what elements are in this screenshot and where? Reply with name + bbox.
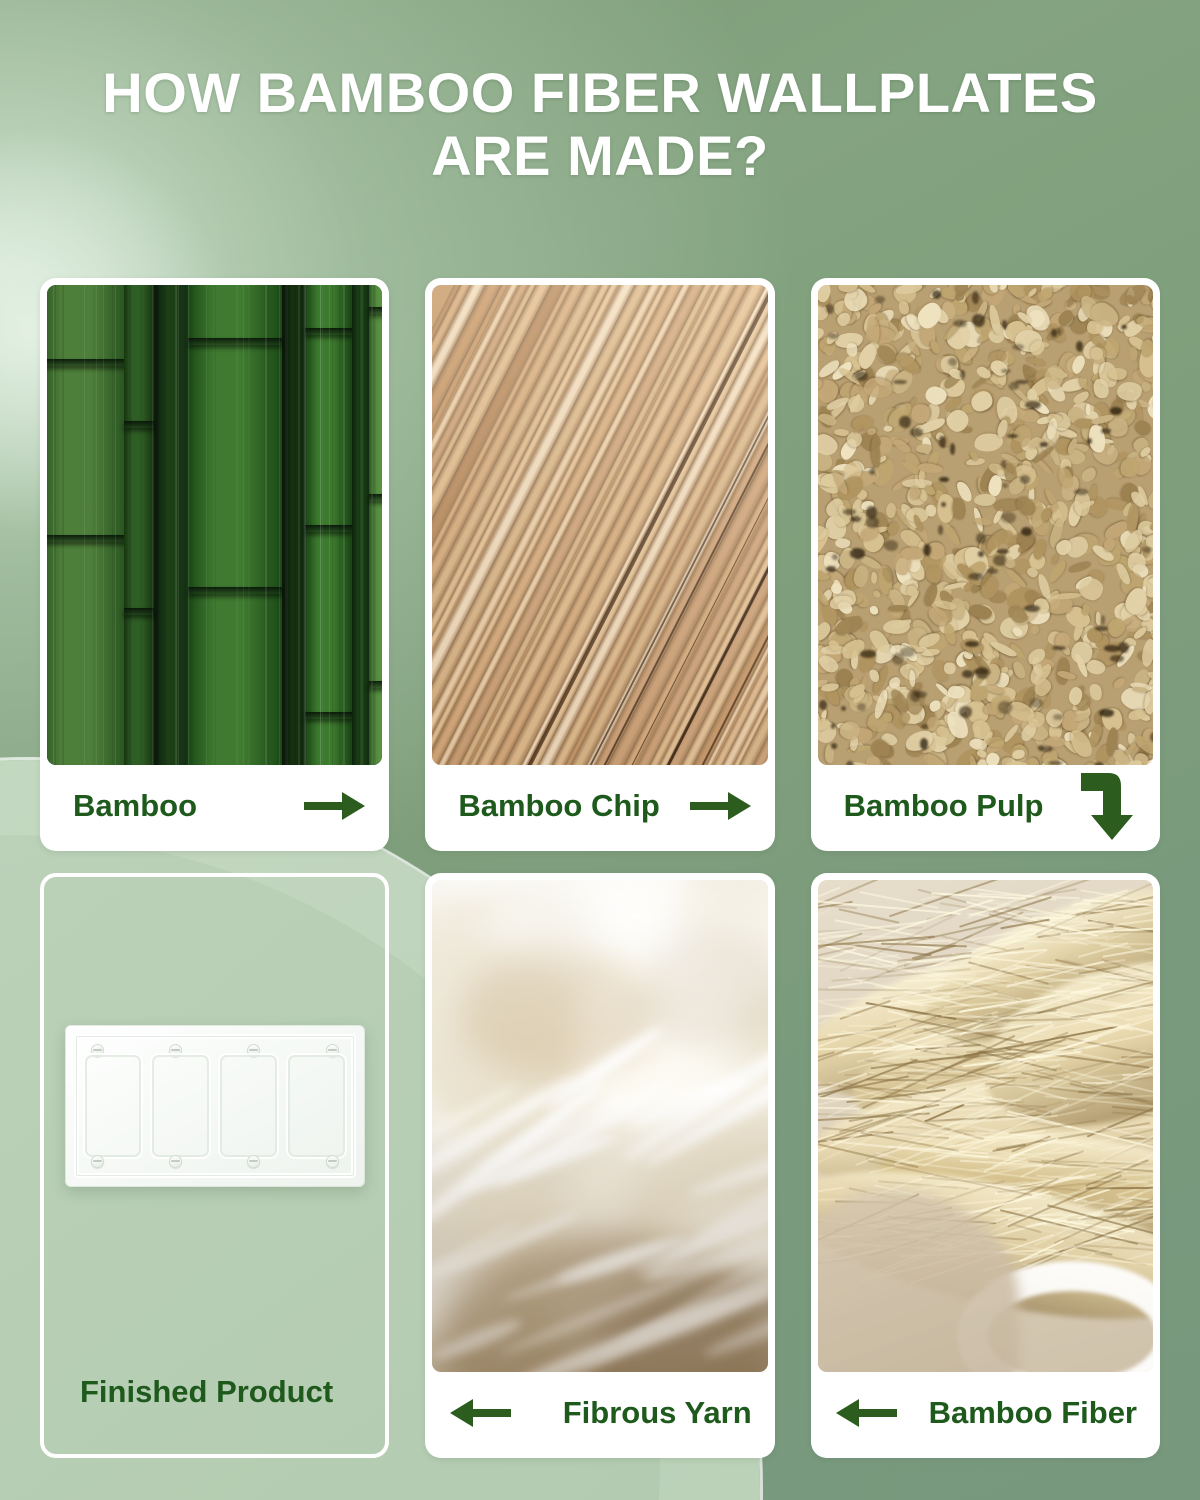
screw-icon xyxy=(91,1155,104,1168)
step-label-bamboo-pulp: Bamboo Pulp xyxy=(844,788,1044,824)
step-caption-fibrous-yarn: Fibrous Yarn xyxy=(432,1372,767,1458)
step-label-finished-product: Finished Product xyxy=(80,1374,333,1410)
step-card-bamboo[interactable]: Bamboo xyxy=(40,278,389,851)
fibrous-yarn-photo xyxy=(432,880,767,1372)
step-card-finished-product[interactable]: Finished Product xyxy=(40,873,389,1458)
process-steps-grid: Bamboo Bamboo Chip xyxy=(40,278,1160,1458)
page-title: HOW BAMBOO FIBER WALLPLATES ARE MADE? xyxy=(0,62,1200,187)
arrow-left-icon xyxy=(836,1396,898,1430)
step-card-fibrous-yarn[interactable]: Fibrous Yarn xyxy=(425,873,774,1458)
arrow-right-icon xyxy=(304,789,366,823)
step-caption-finished-product: Finished Product xyxy=(44,1334,385,1454)
screw-icon xyxy=(326,1155,339,1168)
step-card-bamboo-pulp[interactable]: Bamboo Pulp xyxy=(811,278,1160,851)
wallplate-product-photo xyxy=(44,877,385,1334)
arrow-right-down-icon xyxy=(1079,769,1137,843)
step-caption-bamboo: Bamboo xyxy=(47,765,382,851)
bamboo-chips-photo xyxy=(432,285,767,765)
wallplate-4gang xyxy=(65,1025,365,1187)
step-label-bamboo-fiber: Bamboo Fiber xyxy=(929,1395,1137,1431)
step-label-fibrous-yarn: Fibrous Yarn xyxy=(563,1395,752,1431)
bamboo-pulp-photo xyxy=(818,285,1153,765)
bamboo-stalks-photo xyxy=(47,285,382,765)
step-card-bamboo-chip[interactable]: Bamboo Chip xyxy=(425,278,774,851)
step-card-bamboo-fiber[interactable]: Bamboo Fiber xyxy=(811,873,1160,1458)
step-caption-bamboo-pulp: Bamboo Pulp xyxy=(818,765,1153,851)
step-caption-bamboo-chip: Bamboo Chip xyxy=(432,765,767,851)
wallplate-gang-openings xyxy=(85,1055,345,1157)
step-label-bamboo-chip: Bamboo Chip xyxy=(458,788,660,824)
step-label-bamboo: Bamboo xyxy=(73,788,197,824)
gang-opening xyxy=(85,1055,142,1157)
gang-opening xyxy=(152,1055,209,1157)
wallplate-screws-bottom xyxy=(91,1155,339,1168)
bamboo-fiber-photo xyxy=(818,880,1153,1372)
gang-opening xyxy=(288,1055,345,1157)
screw-icon xyxy=(169,1155,182,1168)
arrow-left-icon xyxy=(450,1396,512,1430)
step-caption-bamboo-fiber: Bamboo Fiber xyxy=(818,1372,1153,1458)
arrow-right-icon xyxy=(690,789,752,823)
gang-opening xyxy=(220,1055,277,1157)
screw-icon xyxy=(247,1155,260,1168)
